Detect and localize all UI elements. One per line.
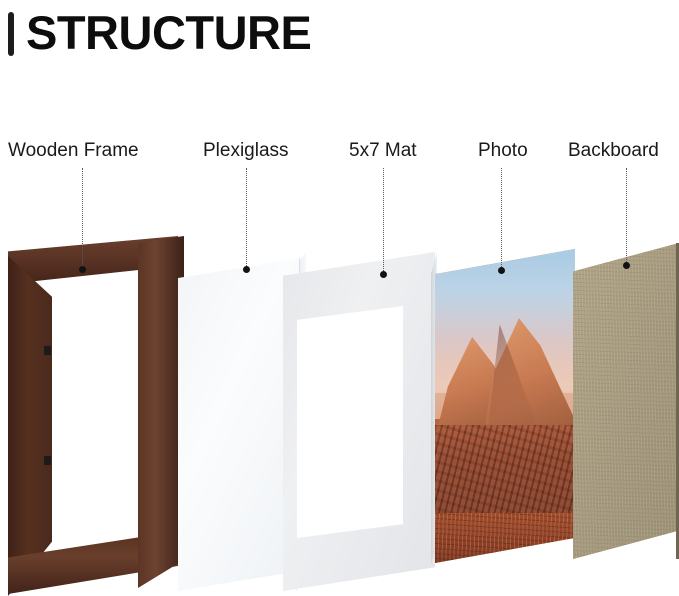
layer-backboard: [573, 243, 679, 559]
leader-line-photo: [501, 168, 502, 267]
leader-dot-mat: [380, 271, 387, 278]
frame-clip-upper: [44, 346, 51, 355]
label-photo: Photo: [478, 140, 528, 162]
layer-photo: [435, 249, 575, 563]
backboard-texture: [573, 243, 679, 559]
label-plexiglass: Plexiglass: [203, 140, 289, 162]
photo-ridge-texture: [435, 425, 575, 519]
frame-opening: [48, 284, 144, 544]
exploded-view-diagram: [0, 0, 679, 591]
mat-window-opening: [297, 306, 403, 538]
layer-plexiglass: [178, 258, 300, 591]
leader-line-plexiglass: [246, 168, 247, 266]
frame-clip-lower: [44, 456, 51, 465]
label-mat: 5x7 Mat: [349, 140, 417, 162]
leader-line-wooden-frame: [82, 168, 83, 266]
frame-right-rail: [138, 236, 184, 588]
label-wooden-frame: Wooden Frame: [8, 140, 139, 162]
frame-left-rail: [8, 256, 52, 596]
leader-dot-photo: [498, 267, 505, 274]
label-backboard: Backboard: [568, 140, 659, 162]
leader-dot-plexiglass: [243, 266, 250, 273]
leader-dot-wooden-frame: [79, 266, 86, 273]
layer-wooden-frame: [8, 236, 184, 591]
leader-dot-backboard: [623, 262, 630, 269]
leader-line-mat: [383, 168, 384, 271]
photo-foreground-texture: [435, 513, 575, 563]
leader-line-backboard: [626, 168, 627, 262]
